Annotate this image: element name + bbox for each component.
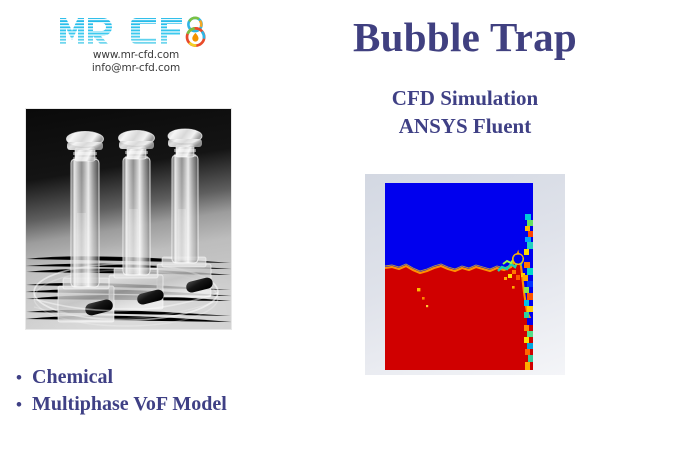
feature-bullet-list: • Chemical • Multiphase VoF Model — [16, 364, 416, 418]
cfd-contour-plot — [365, 174, 565, 375]
list-item: • Chemical — [16, 364, 416, 391]
detached-bubble — [514, 255, 523, 264]
list-item: • Multiphase VoF Model — [16, 391, 416, 418]
bullet-marker-icon: • — [16, 364, 32, 391]
bullet-label-multiphase: Multiphase VoF Model — [32, 391, 227, 418]
subtitle-line-1: CFD Simulation — [300, 84, 630, 112]
page-title: Bubble Trap — [300, 14, 630, 61]
logo-website[interactable]: www.mr-cfd.com — [58, 49, 214, 62]
bullet-marker-icon: • — [16, 391, 32, 418]
bullet-label-chemical: Chemical — [32, 364, 113, 391]
logo-contact-block: www.mr-cfd.com info@mr-cfd.com — [58, 49, 214, 75]
mr-cfd-logo-icon — [58, 14, 214, 48]
brand-logo[interactable]: www.mr-cfd.com info@mr-cfd.com — [58, 14, 214, 75]
slide-canvas: www.mr-cfd.com info@mr-cfd.com Bubble Tr… — [0, 0, 700, 455]
subtitle-line-2: ANSYS Fluent — [300, 112, 630, 140]
logo-email[interactable]: info@mr-cfd.com — [58, 62, 214, 75]
page-subtitle: CFD Simulation ANSYS Fluent — [300, 84, 630, 140]
volume-fraction-contour-svg — [365, 174, 565, 375]
logo-delta-glyph — [187, 18, 204, 46]
product-photo — [25, 108, 232, 330]
